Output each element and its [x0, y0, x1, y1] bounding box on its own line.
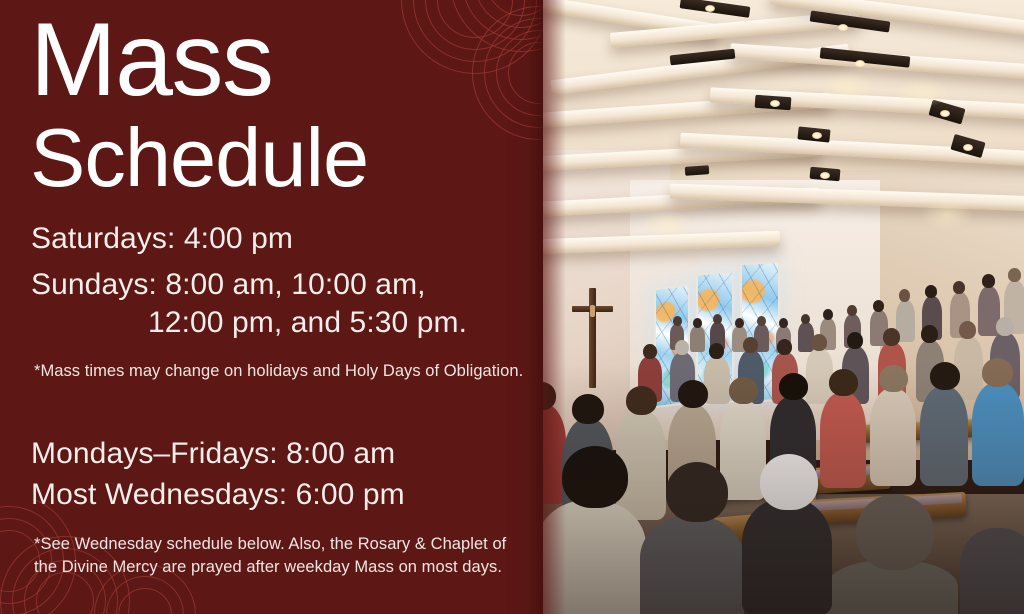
recessed-light [770, 100, 780, 107]
light-glow [640, 210, 694, 240]
congregant-head [801, 314, 810, 324]
congregant-head [847, 305, 857, 316]
congregant-head [777, 339, 792, 355]
mass-schedule-poster: Mass Schedule Saturdays: 4:00 pm Sundays… [0, 0, 1024, 614]
congregant-head [675, 340, 689, 355]
recessed-light [820, 172, 830, 179]
weekend-note: *Mass times may change on holidays and H… [34, 360, 523, 383]
ceiling-light-slot [685, 165, 710, 176]
light-glow [820, 72, 874, 102]
congregant-head [735, 318, 744, 328]
weekend-line-sunday: Sundays: 8:00 am, 10:00 am, [31, 268, 426, 302]
congregant-head [847, 332, 863, 349]
congregant-head [996, 317, 1014, 336]
church-photo [520, 0, 1024, 614]
poster-text-content: Mass Schedule Saturdays: 4:00 pm Sundays… [0, 0, 546, 614]
congregant-head [713, 314, 722, 324]
congregant-head [1008, 268, 1021, 282]
congregant-head [982, 274, 995, 288]
weekday-note-line2: the Divine Mercy are prayed after weekda… [34, 556, 502, 579]
congregant-head [925, 285, 937, 298]
weekday-line-wednesday: Most Wednesdays: 6:00 pm [31, 478, 405, 512]
recessed-light [940, 110, 950, 117]
crucifix-corpus [590, 305, 595, 317]
congregant-head [643, 344, 657, 359]
page-title-line2: Schedule [30, 116, 368, 200]
weekend-line-saturday: Saturdays: 4:00 pm [31, 222, 293, 256]
congregant-head [673, 316, 682, 326]
church-photo-image [520, 0, 1024, 614]
congregant-head [883, 328, 900, 346]
weekday-note-line1: *See Wednesday schedule below. Also, the… [34, 533, 506, 556]
congregant-head [823, 309, 833, 320]
congregant-head [693, 318, 702, 328]
recessed-light [812, 132, 822, 139]
recessed-light [855, 60, 865, 67]
recessed-light [963, 144, 973, 151]
congregant-head [743, 337, 758, 353]
light-glow [920, 200, 974, 230]
congregant-head [811, 334, 827, 351]
page-title-line1: Mass [30, 8, 272, 112]
recessed-light [705, 5, 715, 12]
congregant [690, 326, 705, 352]
weekday-line-mon-fri: Mondays–Fridays: 8:00 am [31, 437, 395, 471]
congregant-head [873, 300, 884, 312]
light-glow [895, 78, 949, 108]
congregant-head [959, 321, 976, 339]
congregant-head [953, 281, 965, 294]
depth-haze [520, 364, 1024, 614]
congregant-head [921, 325, 938, 343]
congregant-head [779, 318, 788, 328]
congregant-head [709, 343, 724, 359]
weekend-line-sunday-cont: 12:00 pm, and 5:30 pm. [148, 306, 467, 340]
congregant-head [757, 316, 766, 326]
congregant-head [899, 289, 910, 302]
recessed-light [838, 24, 848, 31]
